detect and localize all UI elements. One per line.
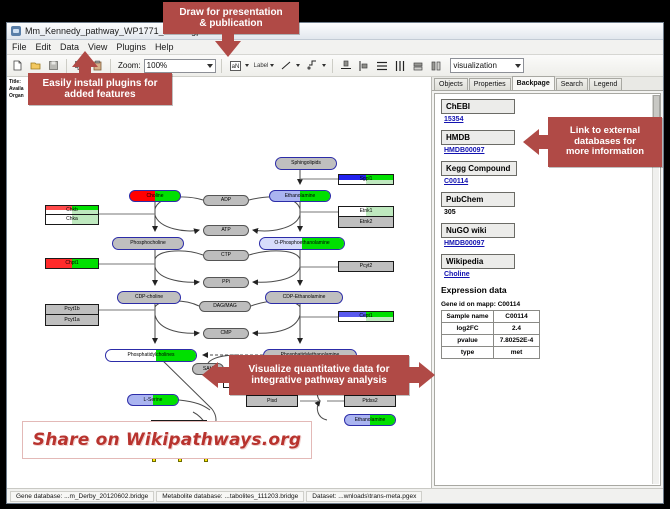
kegg-compound-link[interactable]: C00114 [444, 178, 654, 185]
node-sphingolipids[interactable]: Sphingolipids [275, 157, 337, 170]
node-dag-mag[interactable]: DAG/MAG [199, 301, 251, 312]
callout-draw: Draw for presentation & publication [163, 2, 299, 34]
save-icon[interactable] [46, 58, 61, 73]
node-label: Phosphatidylcholines [128, 353, 175, 358]
connector-dropdown[interactable] [304, 58, 327, 73]
node-label: Pcyt2 [360, 264, 373, 269]
chebi-heading: ChEBI [441, 99, 515, 114]
menu-help[interactable]: Help [155, 42, 174, 52]
open-folder-icon[interactable] [28, 58, 43, 73]
table-cell-key: pvalue [442, 335, 494, 347]
callout-visualize-text: Visualize quantitative data for integrat… [249, 364, 390, 387]
node-label: Chka [66, 217, 78, 222]
same-height-icon[interactable] [428, 58, 443, 73]
node-label: ATP [221, 228, 230, 233]
pathvisio-icon [11, 26, 21, 36]
node-label: CDP-choline [135, 295, 163, 300]
line-icon[interactable] [279, 58, 294, 73]
node-ptdss2[interactable]: Ptdss2 [344, 395, 396, 407]
hmdb-heading: HMDB [441, 130, 515, 145]
tab-backpage[interactable]: Backpage [512, 76, 555, 90]
node-pcyt2[interactable]: Pcyt2 [338, 261, 394, 272]
line-dropdown[interactable] [278, 58, 301, 73]
table-row: pvalue 7.80252E-4 [442, 335, 540, 347]
menubar: File Edit Data View Plugins Help [7, 40, 663, 55]
callout-link: Link to external databases for more info… [548, 117, 662, 167]
expression-data-title: Expression data [441, 285, 654, 295]
chevron-down-icon [515, 64, 521, 68]
zoom-label: Zoom: [118, 61, 141, 70]
titlebar: Mm_Kennedy_pathway_WP1771_45176.gpml [7, 23, 663, 40]
table-row: type met [442, 347, 540, 359]
node-ctp[interactable]: CTP [203, 250, 249, 261]
datanode-dropdown[interactable]: aN [227, 58, 250, 73]
node-label: Chpt1 [65, 261, 78, 266]
chevron-down-icon [207, 64, 213, 68]
callout-plugins: Easily install plugins for added feature… [28, 73, 172, 105]
toolbar-separator [66, 59, 67, 73]
wikipedia-heading: Wikipedia [441, 254, 515, 269]
table-cell-value: 2.4 [494, 323, 540, 335]
node-label: Ethanolamine [285, 194, 316, 199]
callout-draw-arrow [215, 41, 241, 57]
chevron-down-icon [270, 64, 274, 67]
callout-visualize-arrow-right [419, 362, 435, 388]
pubchem-value: 305 [444, 209, 654, 216]
node-pcyt1b[interactable]: Pcyt1b [45, 304, 99, 315]
node-l-serine-left[interactable]: L-Serine [127, 394, 179, 406]
svg-text:aN: aN [231, 64, 239, 70]
node-label: Pcyt1a [64, 318, 79, 323]
node-atp[interactable]: ATP [203, 225, 249, 236]
menu-edit[interactable]: Edit [36, 42, 52, 52]
table-row: Sample name C00114 [442, 311, 540, 323]
node-label: CDP-Ethanolamine [283, 295, 326, 300]
table-cell-key: log2FC [442, 323, 494, 335]
node-label: Ptdss2 [362, 399, 377, 404]
node-label: ADP [221, 198, 231, 203]
side-panel-tabs: Objects Properties Backpage Search Legen… [432, 77, 663, 91]
node-etnk2[interactable]: Etnk2 [338, 217, 394, 228]
node-ppi[interactable]: PPi [203, 277, 249, 288]
same-width-icon[interactable] [410, 58, 425, 73]
distribute-vertical-icon[interactable] [374, 58, 389, 73]
tab-objects[interactable]: Objects [434, 78, 468, 90]
node-label: PPi [222, 280, 230, 285]
node-o-phosphoethanolamine[interactable]: O-Phosphoethanolamine [259, 237, 345, 250]
node-cdp-ethanolamine[interactable]: CDP-Ethanolamine [265, 291, 343, 304]
node-pisd[interactable]: Pisd [246, 395, 298, 407]
callout-visualize-arrow [202, 362, 218, 388]
connector-icon[interactable] [305, 58, 320, 73]
align-left-icon[interactable] [356, 58, 371, 73]
toolbar-separator [332, 59, 333, 73]
node-phosphatidylcholines[interactable]: Phosphatidylcholines [105, 349, 197, 362]
node-label: O-Phosphoethanolamine [274, 241, 329, 246]
nugo-wiki-heading: NuGO wiki [441, 223, 515, 238]
node-label: Etnk1 [360, 209, 373, 214]
chevron-down-icon [245, 64, 249, 67]
callout-share-text: Share on Wikipathways.org [33, 430, 301, 450]
node-label: Phosphocholine [130, 241, 166, 246]
distribute-horizontal-icon[interactable] [392, 58, 407, 73]
table-cell-value: 7.80252E-4 [494, 335, 540, 347]
tab-search[interactable]: Search [556, 78, 588, 90]
callout-link-arrow [523, 129, 539, 155]
node-pcyt1a[interactable]: Pcyt1a [45, 315, 99, 326]
zoom-value: 100% [147, 61, 167, 70]
pubchem-heading: PubChem [441, 192, 515, 207]
expression-table: Sample name C00114 log2FC 2.4 pvalue 7.8… [441, 310, 540, 359]
statusbar: Gene database: ...m_Derby_20120602.bridg… [7, 488, 663, 503]
node-label: Sphingolipids [291, 161, 321, 166]
node-label: Sgpl1 [360, 177, 373, 182]
callout-share: Share on Wikipathways.org [22, 421, 312, 459]
node-cmp[interactable]: CMP [203, 328, 249, 339]
visualization-combo[interactable]: visualization [450, 58, 524, 73]
node-label: CTP [221, 253, 231, 258]
status-dataset: Dataset: ...wnloads\trans-meta.pgex [306, 491, 422, 502]
table-row: log2FC 2.4 [442, 323, 540, 335]
table-cell-value: C00114 [494, 311, 540, 323]
table-cell-key: Sample name [442, 311, 494, 323]
zoom-combo[interactable]: 100% [144, 59, 216, 73]
callout-plugins-arrow [72, 51, 98, 67]
node-label: Pisd [267, 399, 277, 404]
node-label: Etnk2 [360, 220, 373, 225]
node-cdp-choline[interactable]: CDP-choline [117, 291, 181, 304]
callout-visualize-stem [218, 367, 231, 383]
align-top-icon[interactable] [338, 58, 353, 73]
toolbar-separator [110, 59, 111, 73]
chevron-down-icon [322, 64, 326, 67]
wikipedia-link[interactable]: Choline [444, 271, 654, 278]
node-sgpl1[interactable]: Sgpl1 [338, 174, 394, 185]
callout-visualize: Visualize quantitative data for integrat… [229, 355, 409, 395]
visualization-value: visualization [453, 61, 497, 70]
table-cell-key: type [442, 347, 494, 359]
node-label: CMP [220, 331, 231, 336]
node-label: Ethanolamine [355, 418, 386, 423]
node-cept1[interactable]: Cept1 [338, 311, 394, 322]
node-etnk1[interactable]: Etnk1 [338, 206, 394, 217]
screenshot-root: Mm_Kennedy_pathway_WP1771_45176.gpml Fil… [0, 0, 670, 509]
node-choline-top[interactable]: Choline [129, 190, 181, 202]
node-adp[interactable]: ADP [203, 195, 249, 206]
node-label: DAG/MAG [213, 304, 237, 309]
callout-plugins-text: Easily install plugins for added feature… [42, 78, 157, 101]
tab-properties[interactable]: Properties [469, 78, 511, 90]
label-dropdown[interactable]: Label [253, 58, 276, 73]
datanode-icon[interactable]: aN [228, 58, 243, 73]
status-gene-database: Gene database: ...m_Derby_20120602.bridg… [10, 491, 154, 502]
node-label: Chkb [66, 208, 78, 213]
chevron-down-icon [296, 64, 300, 67]
label-icon[interactable]: Label [254, 63, 269, 69]
callout-link-text: Link to external databases for more info… [566, 126, 644, 159]
node-chpt1[interactable]: Chpt1 [45, 258, 99, 269]
node-ethanolamine-right[interactable]: Ethanolamine [344, 414, 396, 426]
node-chkb[interactable]: Chkb [45, 205, 99, 215]
tab-legend[interactable]: Legend [589, 78, 622, 90]
node-chka[interactable]: Chka [45, 215, 99, 225]
gene-id-line: Gene id on mapp: C00114 [441, 301, 654, 308]
callout-draw-text: Draw for presentation & publication [179, 7, 282, 30]
callout-link-stem [539, 135, 549, 149]
callout-plugins-stem [79, 66, 91, 74]
nugo-wiki-link[interactable]: HMDB00097 [444, 240, 654, 247]
node-label: L-Serine [144, 398, 163, 403]
menu-file[interactable]: File [12, 42, 27, 52]
node-label: Choline [147, 194, 164, 199]
table-cell-value: met [494, 347, 540, 359]
new-icon[interactable] [10, 58, 25, 73]
node-label: Cept1 [359, 314, 372, 319]
toolbar-separator [221, 59, 222, 73]
kegg-compound-heading: Kegg Compound [441, 161, 517, 176]
menu-plugins[interactable]: Plugins [116, 42, 146, 52]
status-metabolite-database: Metabolite database: ...tabolites_111203… [156, 491, 304, 502]
node-phosphocholine[interactable]: Phosphocholine [112, 237, 184, 250]
node-label: Pcyt1b [64, 307, 79, 312]
node-ethanolamine-top[interactable]: Ethanolamine [269, 190, 331, 202]
